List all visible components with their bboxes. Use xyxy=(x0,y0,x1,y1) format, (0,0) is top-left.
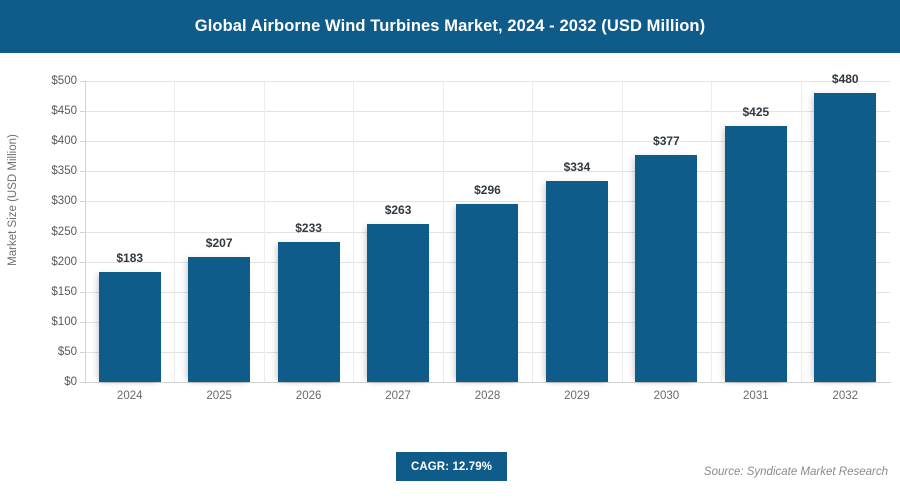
y-axis-tick-label: $50 xyxy=(15,346,85,358)
bar[interactable] xyxy=(99,272,161,382)
bar[interactable] xyxy=(456,204,518,382)
x-axis-tick-label: 2029 xyxy=(532,390,621,402)
x-axis-line xyxy=(85,382,891,383)
bar[interactable] xyxy=(188,257,250,382)
y-axis-tick-label: $450 xyxy=(15,105,85,117)
bar-value-label: $263 xyxy=(385,203,412,217)
y-axis-tick-label: $250 xyxy=(15,226,85,238)
chart-header-band: Global Airborne Wind Turbines Market, 20… xyxy=(0,0,900,53)
y-axis-tick-label: $150 xyxy=(15,286,85,298)
bar-slot: $480 xyxy=(801,81,890,382)
chart-container: Global Airborne Wind Turbines Market, 20… xyxy=(0,0,900,500)
bar[interactable] xyxy=(725,126,787,382)
y-axis-tick-mark xyxy=(80,382,85,383)
y-axis-ticks: $0$50$100$150$200$250$300$350$400$450$50… xyxy=(0,81,85,382)
x-axis-tick-label: 2024 xyxy=(85,390,174,402)
bar-slot: $334 xyxy=(532,81,621,382)
x-axis-tick-label: 2025 xyxy=(174,390,263,402)
bar[interactable] xyxy=(278,242,340,382)
y-axis-tick-label: $100 xyxy=(15,316,85,328)
bar-slot: $263 xyxy=(353,81,442,382)
y-axis-tick-label: $400 xyxy=(15,135,85,147)
cagr-badge: CAGR: 12.79% xyxy=(396,452,507,481)
x-axis-tick-label: 2030 xyxy=(622,390,711,402)
bar-slot: $233 xyxy=(264,81,353,382)
chart-title: Global Airborne Wind Turbines Market, 20… xyxy=(195,17,705,36)
bar-slot: $377 xyxy=(622,81,711,382)
y-axis-tick-label: $0 xyxy=(15,376,85,388)
y-axis-tick-label: $350 xyxy=(15,165,85,177)
x-axis-ticks: 202420252026202720282029203020312032 xyxy=(85,390,890,414)
bar-value-label: $296 xyxy=(474,183,501,197)
source-note: Source: Syndicate Market Research xyxy=(704,466,888,478)
x-axis-tick-label: 2032 xyxy=(801,390,890,402)
bar-slot: $183 xyxy=(85,81,174,382)
bar-value-label: $425 xyxy=(742,105,769,119)
x-axis-tick-label: 2027 xyxy=(353,390,442,402)
bar[interactable] xyxy=(814,93,876,382)
bar-value-label: $207 xyxy=(206,236,233,250)
bar-slot: $425 xyxy=(711,81,800,382)
bar[interactable] xyxy=(546,181,608,382)
bar[interactable] xyxy=(367,224,429,382)
bar-value-label: $233 xyxy=(295,221,322,235)
x-axis-tick-label: 2031 xyxy=(711,390,800,402)
bar-slot: $296 xyxy=(443,81,532,382)
x-axis-tick-label: 2026 xyxy=(264,390,353,402)
x-axis-tick-label: 2028 xyxy=(443,390,532,402)
bars-layer: $183$207$233$263$296$334$377$425$480 xyxy=(85,81,890,382)
bar-slot: $207 xyxy=(174,81,263,382)
bar[interactable] xyxy=(635,155,697,382)
y-axis-tick-label: $200 xyxy=(15,256,85,268)
bar-value-label: $334 xyxy=(564,160,591,174)
y-axis-tick-label: $300 xyxy=(15,195,85,207)
bar-value-label: $183 xyxy=(116,251,143,265)
y-axis-tick-label: $500 xyxy=(15,75,85,87)
bar-value-label: $377 xyxy=(653,134,680,148)
bar-value-label: $480 xyxy=(832,72,859,86)
